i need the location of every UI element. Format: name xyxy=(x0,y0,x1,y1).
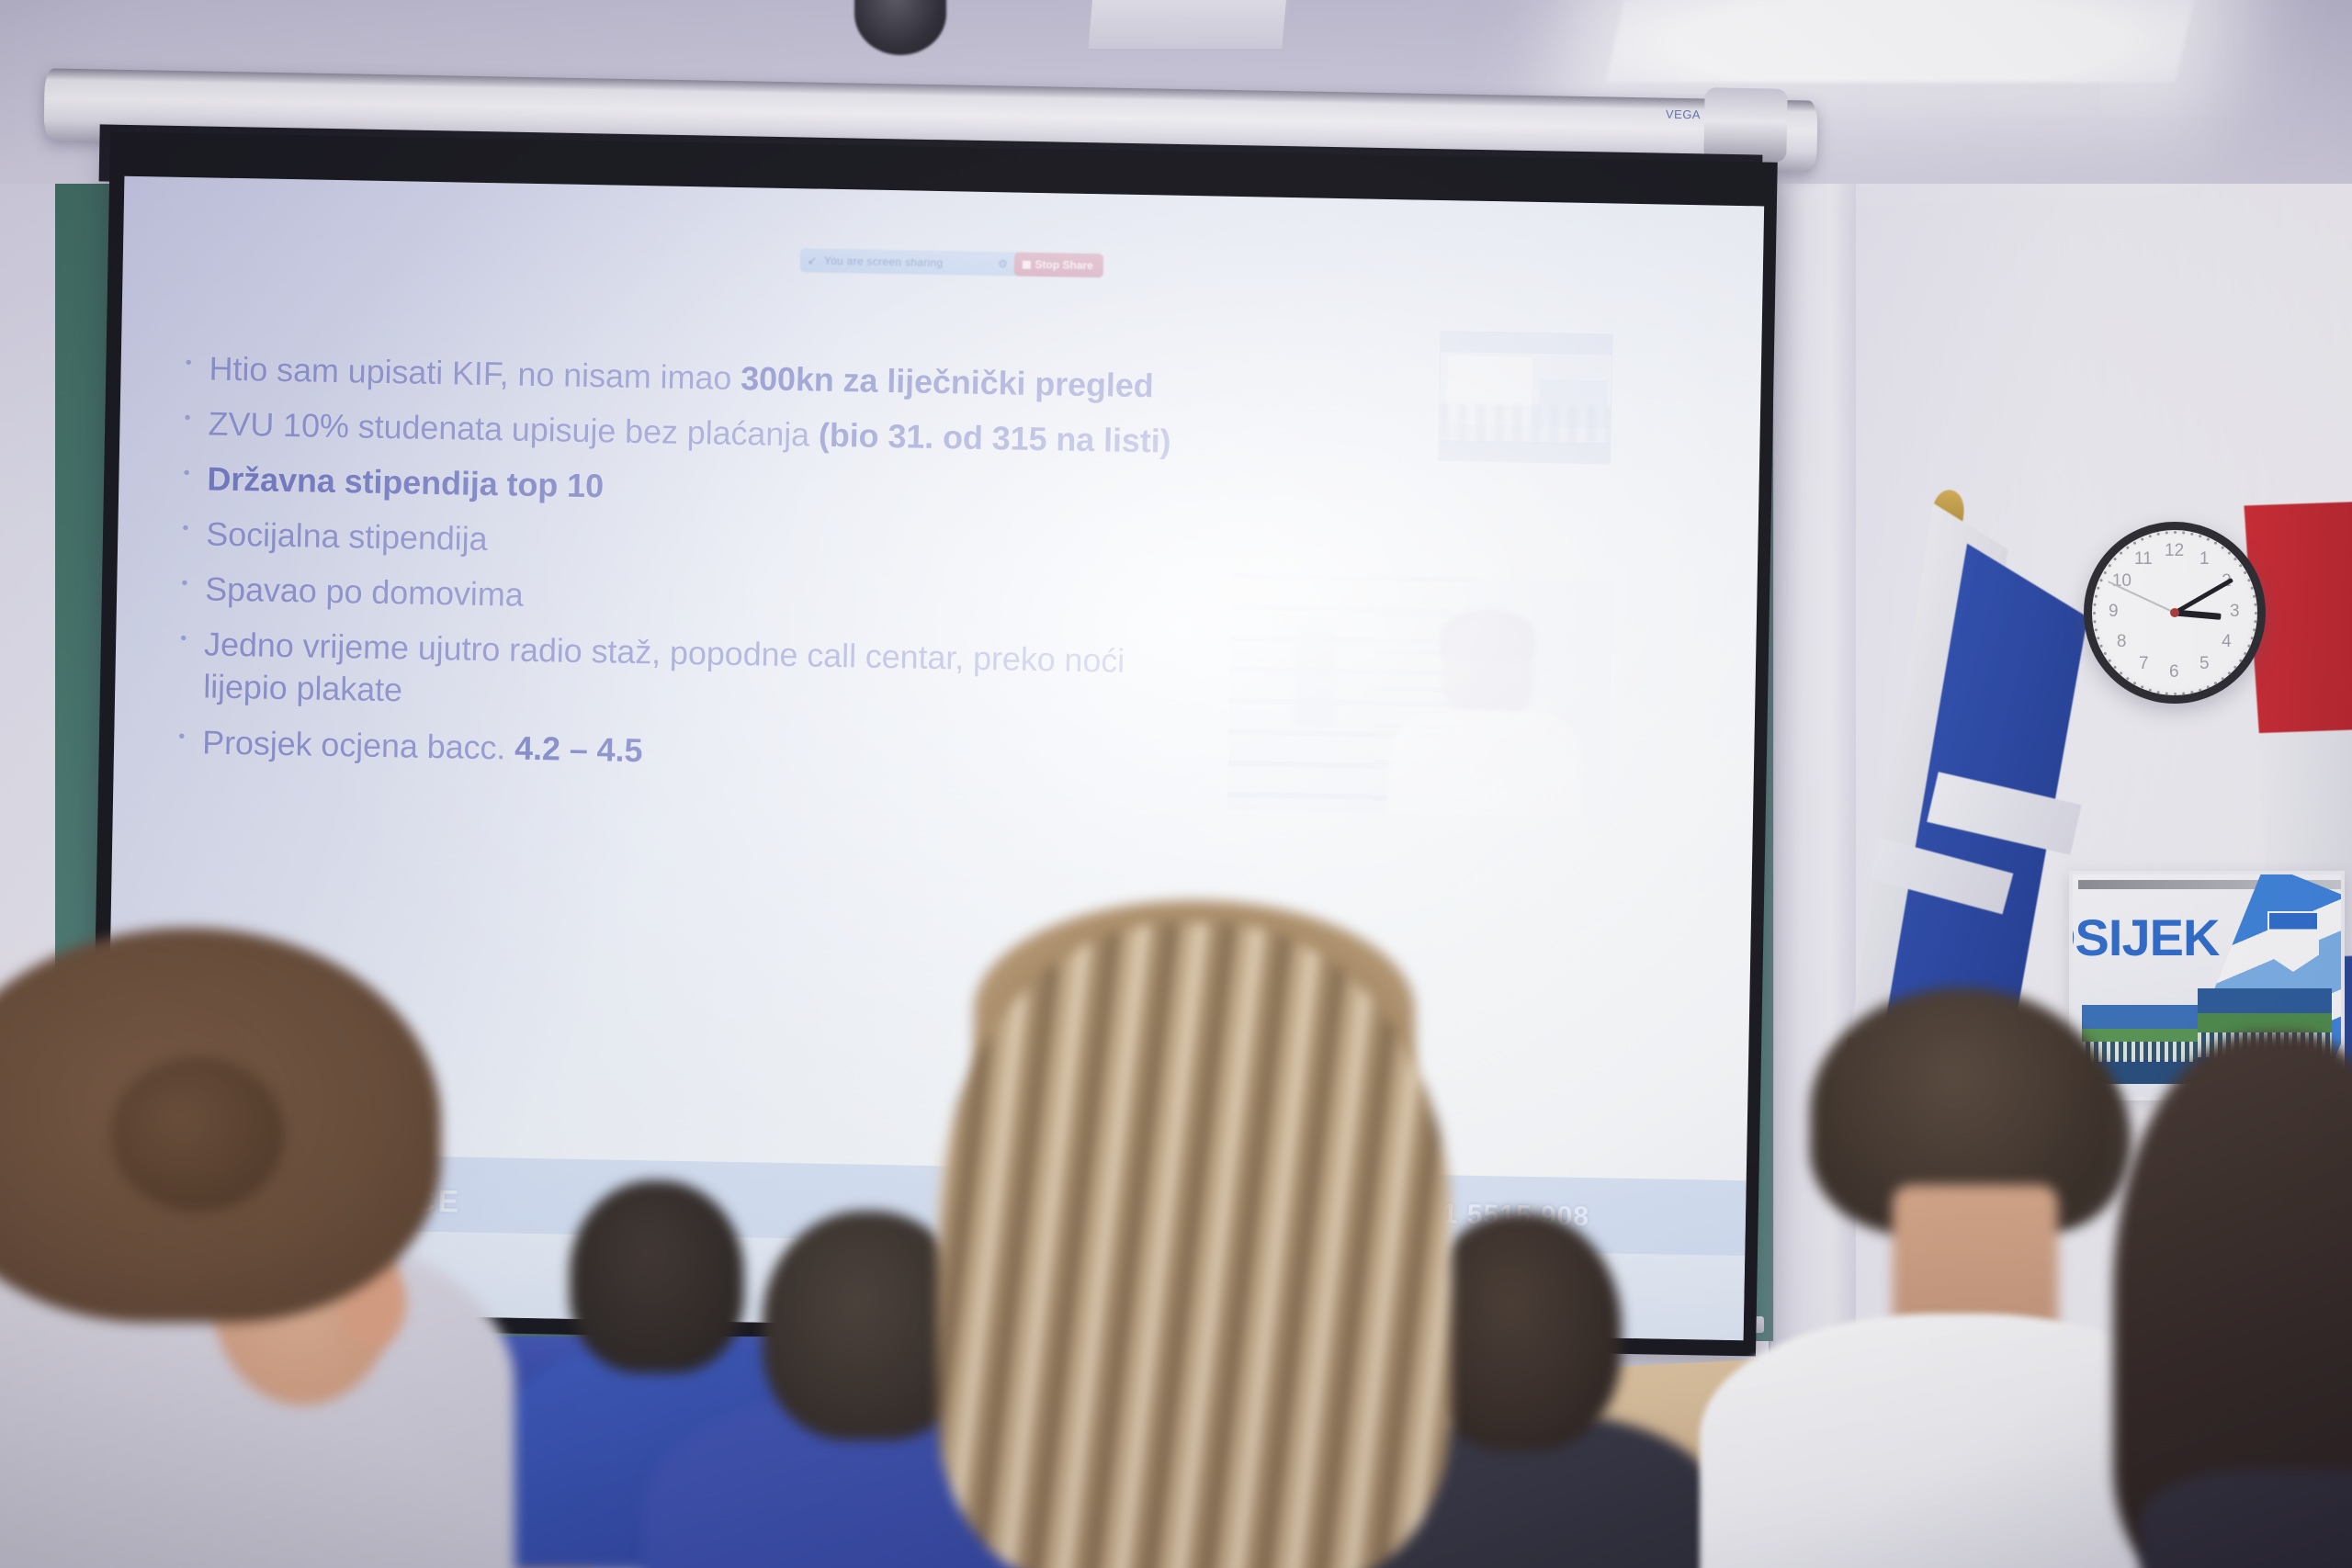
bullet-text: Jedno vrijeme ujutro radio staž, popodne… xyxy=(203,624,1201,727)
bullet-text: Socijalna stipendija xyxy=(206,513,488,561)
bullet-text-bold: 300kn za liječnički pregled xyxy=(741,359,1154,404)
slide-bullet-list: • Htio sam upisati KIF, no nisam imao 30… xyxy=(178,347,1205,795)
screen-share-toolbar[interactable]: ↙ You are screen sharing ⚙ Stop Share xyxy=(800,248,1103,277)
list-item: • Jedno vrijeme ujutro radio staž, popod… xyxy=(179,623,1201,726)
clock-numeral: 11 xyxy=(2134,549,2153,570)
bullet-marker-icon: • xyxy=(184,402,209,431)
stop-share-button[interactable]: Stop Share xyxy=(1013,253,1103,278)
thumb-person-shirt xyxy=(1387,709,1582,818)
video-thumbnail-speaker[interactable] xyxy=(1227,573,1613,818)
clock-numeral: 4 xyxy=(2222,632,2232,652)
clock-numeral: 9 xyxy=(2109,602,2119,622)
thumb-top-bar xyxy=(1441,332,1611,355)
poster-title: OSIJEK xyxy=(2069,908,2219,967)
bullet-text-bold: 4.2 – 4.5 xyxy=(514,728,643,769)
audience-person-hair-bun xyxy=(110,1056,285,1213)
bullet-marker-icon: • xyxy=(180,623,205,651)
clock-numeral: 6 xyxy=(2169,662,2179,682)
gear-icon[interactable]: ⚙ xyxy=(991,257,1013,270)
wall-clock: 123456789101112 xyxy=(2084,522,2266,704)
audience-person-blonde-hair xyxy=(937,923,1452,1568)
list-item: • Spavao po domovima xyxy=(181,568,1202,628)
clock-numeral: 3 xyxy=(2230,602,2240,622)
bullet-text-plain: Prosjek ocjena bacc. xyxy=(202,723,515,766)
ceiling-vent xyxy=(1086,0,1289,51)
bullet-text: Državna stipendija top 10 xyxy=(207,458,604,508)
clock-numeral: 8 xyxy=(2117,632,2127,652)
list-item: • Prosjek ocjena bacc. 4.2 – 4.5 xyxy=(178,720,1199,781)
bullet-marker-icon: • xyxy=(181,568,206,596)
bullet-marker-icon: • xyxy=(183,457,208,486)
stop-square-icon xyxy=(1022,260,1030,268)
audience-person-head xyxy=(570,1180,744,1373)
bullet-text-plain: ZVU 10% studenata upisuje bez plaćanja xyxy=(208,405,819,454)
thumb-audience xyxy=(1439,403,1611,445)
bullet-marker-icon: • xyxy=(186,347,210,376)
list-item: • Htio sam upisati KIF, no nisam imao 30… xyxy=(185,347,1205,408)
stop-share-label: Stop Share xyxy=(1035,258,1093,272)
thumb-bottom-bar xyxy=(1439,440,1610,463)
poster-team-row xyxy=(2082,1042,2201,1062)
bullet-marker-icon: • xyxy=(178,720,203,749)
bullet-text: Spavao po domovima xyxy=(205,569,524,616)
clock-numeral: 12 xyxy=(2165,541,2184,561)
clock-numeral: 7 xyxy=(2139,654,2149,674)
bullet-text: ZVU 10% studenata upisuje bez plaćanja (… xyxy=(208,403,1171,463)
lecture-hall-photo: VEGA ↙ You are screen sharing ⚙ Stop Sha… xyxy=(0,0,2352,1568)
list-item: • Državna stipendija top 10 xyxy=(183,457,1204,518)
ceiling-light-panel xyxy=(1605,0,2198,83)
bullet-text: Htio sam upisati KIF, no nisam imao 300k… xyxy=(209,347,1154,407)
list-item: • ZVU 10% studenata upisuje bez plaćanja… xyxy=(184,402,1204,463)
bullet-text: Prosjek ocjena bacc. 4.2 – 4.5 xyxy=(202,721,643,772)
thumb-background-person xyxy=(1294,617,1336,728)
wall-pillar xyxy=(1773,92,1856,1451)
audience-person-body xyxy=(2141,1470,2352,1568)
video-thumbnail-room[interactable] xyxy=(1438,331,1613,464)
clock-numeral: 1 xyxy=(2199,549,2210,570)
bullet-text-bold: (bio 31. od 315 na listi) xyxy=(819,416,1171,460)
clock-center-cap xyxy=(2170,608,2179,617)
bullet-text-plain: Htio sam upisati KIF, no nisam imao xyxy=(209,349,741,397)
share-arrow-icon: ↙ xyxy=(800,254,824,266)
list-item: • Socijalna stipendija xyxy=(182,513,1203,573)
projector-screen-endcap xyxy=(1703,87,1787,163)
screen-brand-label: VEGA xyxy=(1665,108,1702,121)
clock-numeral: 5 xyxy=(2199,654,2210,674)
screen-share-status-text: You are screen sharing xyxy=(824,254,992,270)
bullet-marker-icon: • xyxy=(182,513,207,541)
